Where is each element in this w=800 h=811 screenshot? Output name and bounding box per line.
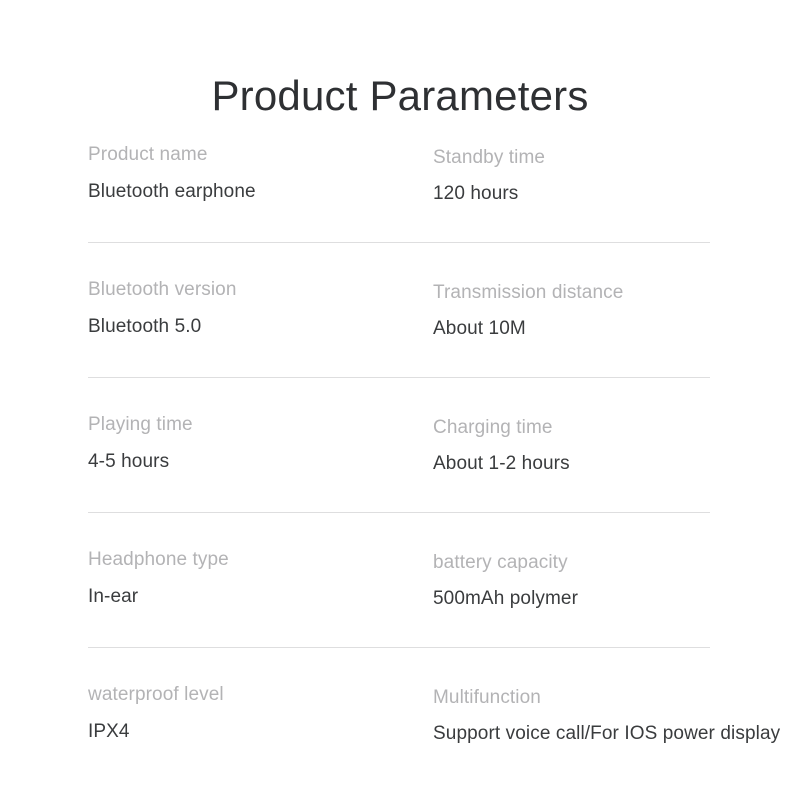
spec-row: Headphone type In-ear battery capacity 5… (88, 541, 710, 676)
spec-label: Transmission distance (433, 282, 710, 305)
spec-value: 120 hours (433, 183, 710, 206)
spec-label: waterproof level (88, 684, 433, 707)
spec-label: Multifunction (433, 687, 710, 710)
spec-value: IPX4 (88, 721, 433, 744)
page-title: Product Parameters (0, 72, 800, 120)
spec-row: Playing time 4-5 hours Charging time Abo… (88, 406, 710, 541)
product-parameters-sheet: Product Parameters Product name Bluetoot… (0, 0, 800, 800)
spec-cell-multifunction: Multifunction Support voice call/For IOS… (433, 676, 710, 746)
spec-cell-bluetooth-version: Bluetooth version Bluetooth 5.0 (88, 271, 433, 339)
spec-value: In-ear (88, 586, 433, 609)
spec-value: 500mAh polymer (433, 588, 710, 611)
specifications-table: Product name Bluetooth earphone Standby … (88, 136, 710, 811)
spec-value: Support voice call/For IOS power display (433, 723, 710, 746)
spec-cell-standby-time: Standby time 120 hours (433, 136, 710, 206)
spec-cell-product-name: Product name Bluetooth earphone (88, 136, 433, 204)
spec-label: Product name (88, 144, 433, 167)
spec-row: Bluetooth version Bluetooth 5.0 Transmis… (88, 271, 710, 406)
spec-label: Bluetooth version (88, 279, 433, 302)
spec-value: About 10M (433, 318, 710, 341)
spec-cell-waterproof-level: waterproof level IPX4 (88, 676, 433, 744)
spec-label: battery capacity (433, 552, 710, 575)
spec-cell-transmission-distance: Transmission distance About 10M (433, 271, 710, 341)
spec-cell-headphone-type: Headphone type In-ear (88, 541, 433, 609)
spec-value: Bluetooth earphone (88, 181, 433, 204)
spec-row: waterproof level IPX4 Multifunction Supp… (88, 676, 710, 811)
spec-label: Charging time (433, 417, 710, 440)
spec-value: 4-5 hours (88, 451, 433, 474)
spec-value: Bluetooth 5.0 (88, 316, 433, 339)
spec-label: Headphone type (88, 549, 433, 572)
spec-cell-charging-time: Charging time About 1-2 hours (433, 406, 710, 476)
spec-label: Playing time (88, 414, 433, 437)
spec-cell-battery-capacity: battery capacity 500mAh polymer (433, 541, 710, 611)
spec-label: Standby time (433, 147, 710, 170)
spec-row: Product name Bluetooth earphone Standby … (88, 136, 710, 271)
spec-cell-playing-time: Playing time 4-5 hours (88, 406, 433, 474)
spec-value: About 1-2 hours (433, 453, 710, 476)
